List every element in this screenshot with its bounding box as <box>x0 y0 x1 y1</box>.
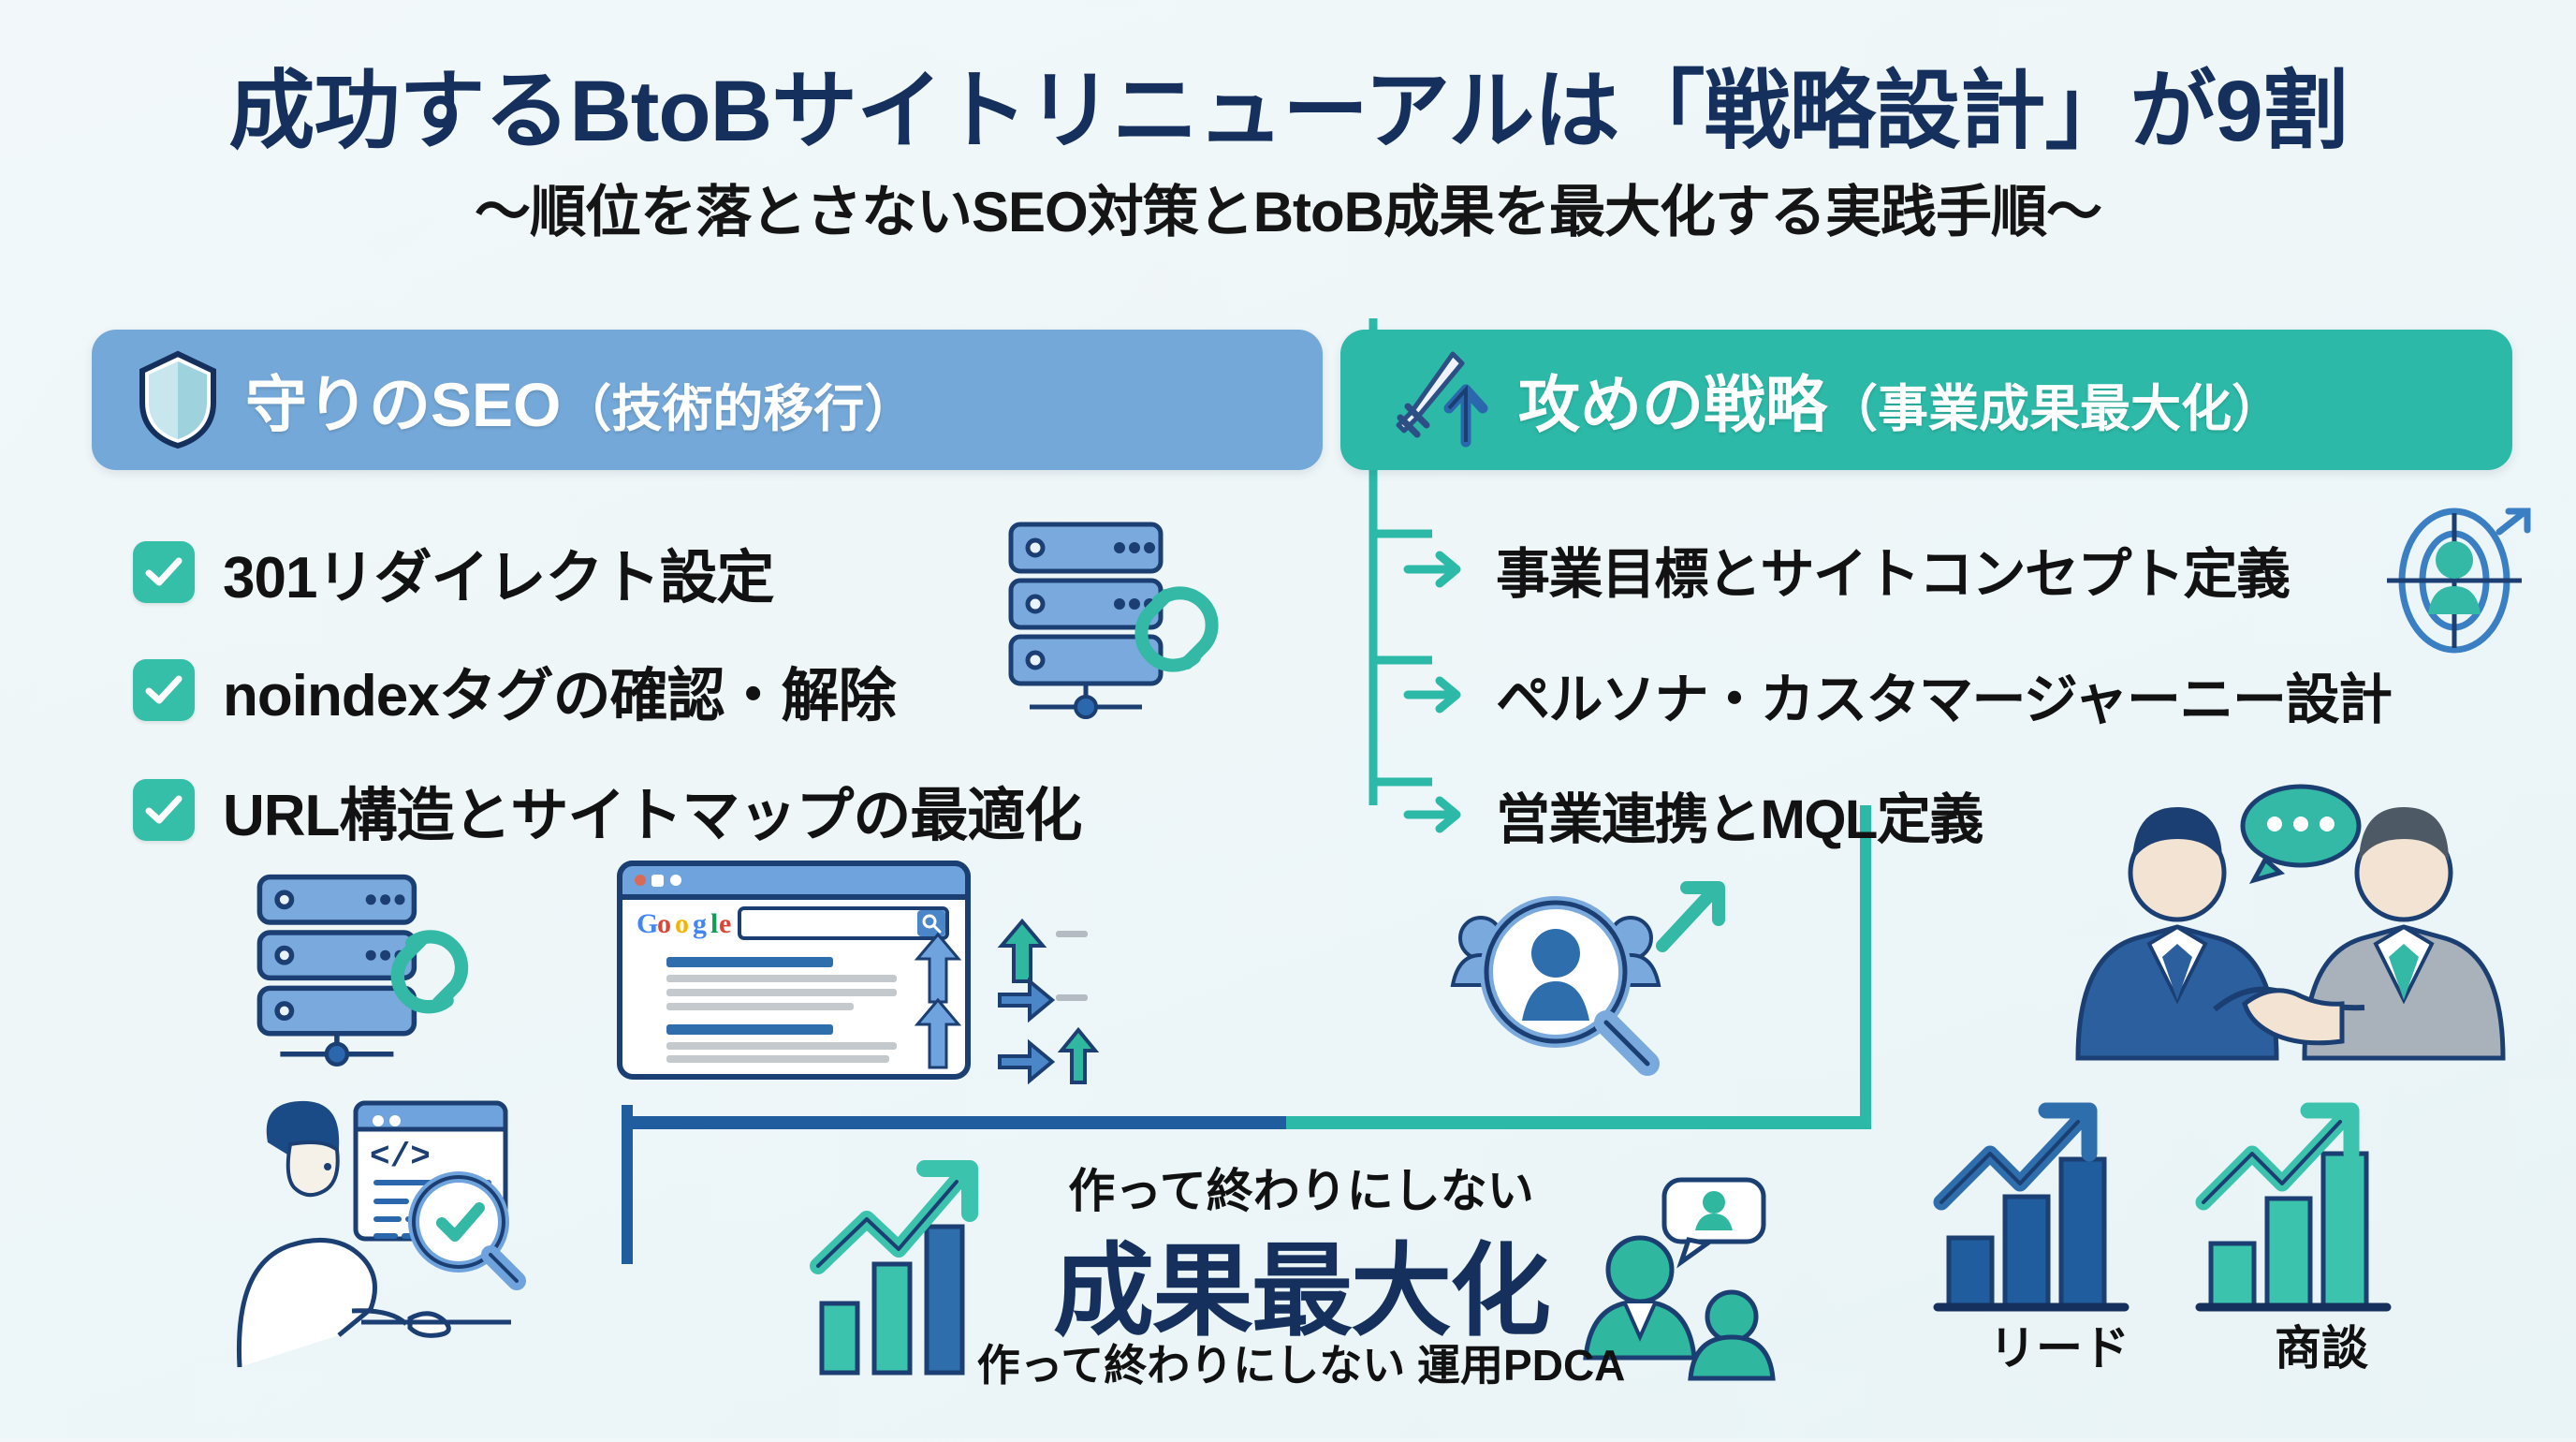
deal-growth-chart <box>2181 1105 2462 1320</box>
target-persona-icon <box>2368 506 2546 655</box>
lead-chart-label: リード <box>1938 1311 2181 1378</box>
svg-text:G: G <box>637 908 658 939</box>
center-post-text: 作って終わりにしない 運用PDCA <box>917 1332 1685 1393</box>
strategy-step-2[interactable]: ペルソナ・カスタマージャーニー設計 <box>1404 655 2391 734</box>
lead-growth-chart <box>1919 1105 2200 1320</box>
svg-text:</>: </> <box>370 1138 431 1176</box>
check-icon <box>133 779 195 841</box>
ranking-arrow-group <box>1000 921 1095 1082</box>
checklist-item-2[interactable]: noindexタグの確認・解除 <box>133 648 896 732</box>
arrow-right-icon <box>1404 791 1471 838</box>
check-icon <box>133 541 195 603</box>
strategy-step-3[interactable]: 営業連携とMQL定義 <box>1404 775 1983 854</box>
svg-text:g: g <box>693 908 707 939</box>
server-rack-link-icon-2 <box>234 871 524 1077</box>
strategy-step-1-label: 事業目標とサイトコンセプト定義 <box>1496 530 2290 609</box>
server-rack-link-icon <box>992 515 1236 730</box>
svg-text:e: e <box>719 908 731 939</box>
checklist-item-3-label: URL構造とサイトマップの最適化 <box>223 768 1081 852</box>
banner-offensive-strategy[interactable]: 攻めの戦略（事業成果最大化） <box>1340 330 2512 470</box>
banner-left-title: 守りのSEO（技術的移行） <box>245 355 915 445</box>
persona-research-icon <box>1432 871 1750 1105</box>
banner-defensive-seo[interactable]: 守りのSEO（技術的移行） <box>92 330 1323 470</box>
shield-icon <box>135 348 221 451</box>
infographic-canvas: 成功するBtoBサイトリニューアルは「戦略設計」が9割 〜順位を落とさないSEO… <box>0 0 2576 1438</box>
sword-arrow-icon <box>1383 345 1494 455</box>
page-title: 成功するBtoBサイトリニューアルは「戦略設計」が9割 <box>0 41 2576 166</box>
checklist-item-1-label: 301リダイレクト設定 <box>223 530 773 614</box>
business-handshake-illustration <box>2050 768 2537 1077</box>
banner-right-title: 攻めの戦略（事業成果最大化） <box>1518 355 2282 445</box>
developer-code-review-illustration: </> <box>178 1077 599 1386</box>
arrow-right-icon <box>1404 546 1471 593</box>
arrow-right-icon <box>1404 671 1471 718</box>
checklist-item-3[interactable]: URL構造とサイトマップの最適化 <box>133 768 1081 852</box>
strategy-step-3-label: 営業連携とMQL定義 <box>1496 775 1983 854</box>
svg-text:o: o <box>657 908 671 939</box>
google-serp-mockup[interactable]: Go og le <box>608 852 1095 1086</box>
check-icon <box>133 659 195 721</box>
deal-chart-label: 商談 <box>2200 1311 2443 1378</box>
strategy-step-2-label: ペルソナ・カスタマージャーニー設計 <box>1496 655 2391 734</box>
checklist-item-2-label: noindexタグの確認・解除 <box>223 648 896 732</box>
svg-text:l: l <box>710 908 718 939</box>
strategy-step-1[interactable]: 事業目標とサイトコンセプト定義 <box>1404 530 2290 609</box>
svg-text:o: o <box>675 908 689 939</box>
checklist-item-1[interactable]: 301リダイレクト設定 <box>133 530 773 614</box>
page-subtitle: 〜順位を落とさないSEO対策とBtoB成果を最大化する実践手順〜 <box>0 167 2576 248</box>
